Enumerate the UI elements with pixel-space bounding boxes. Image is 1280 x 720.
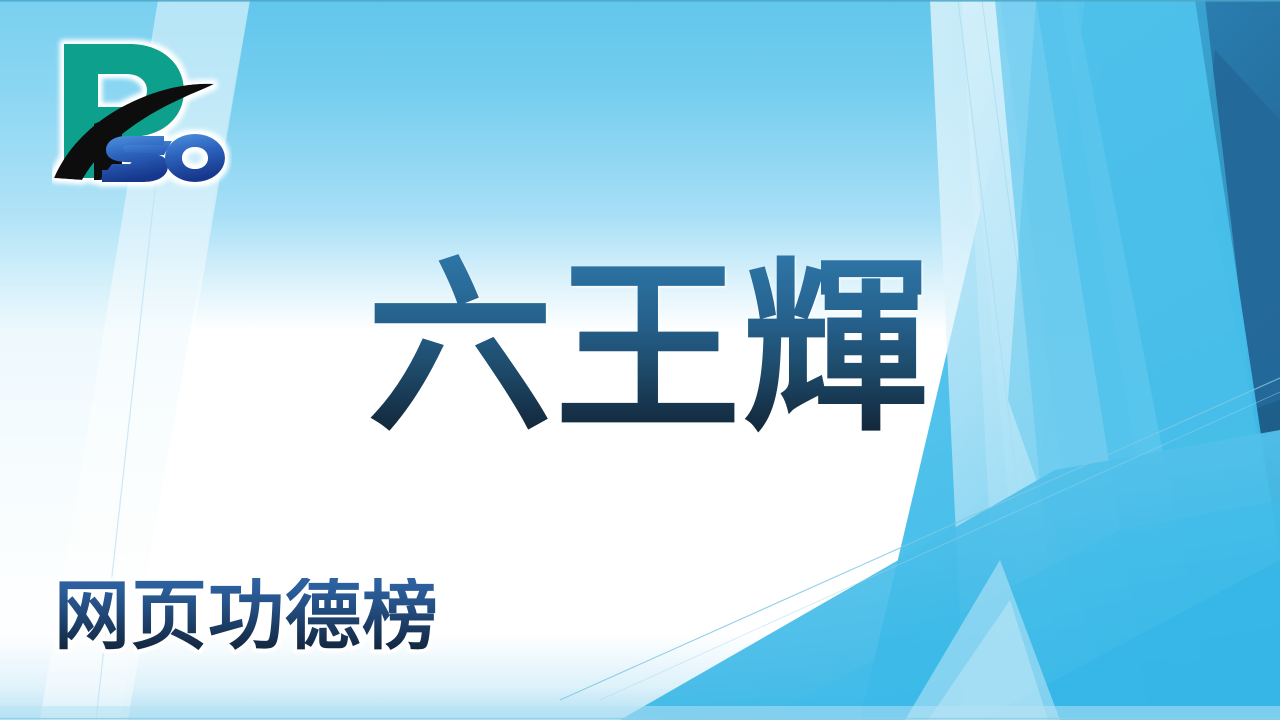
slide-title: 六王輝 <box>349 252 931 445</box>
title-placeholder: 六王輝 <box>0 252 1280 445</box>
pso-logo-mark <box>52 28 232 208</box>
subtitle-outline: 网页功德榜 <box>54 571 439 660</box>
subtitle-wrapper: 网页功德榜 网页功德榜 <box>54 578 439 654</box>
slide-canvas: 六王輝 网页功德榜 网页功德榜 <box>0 0 1280 720</box>
logo-so-letters <box>100 134 225 182</box>
slide-subtitle: 网页功德榜 <box>54 578 439 654</box>
pso-logo <box>52 28 232 208</box>
subtitle-placeholder: 网页功德榜 网页功德榜 <box>54 578 439 654</box>
